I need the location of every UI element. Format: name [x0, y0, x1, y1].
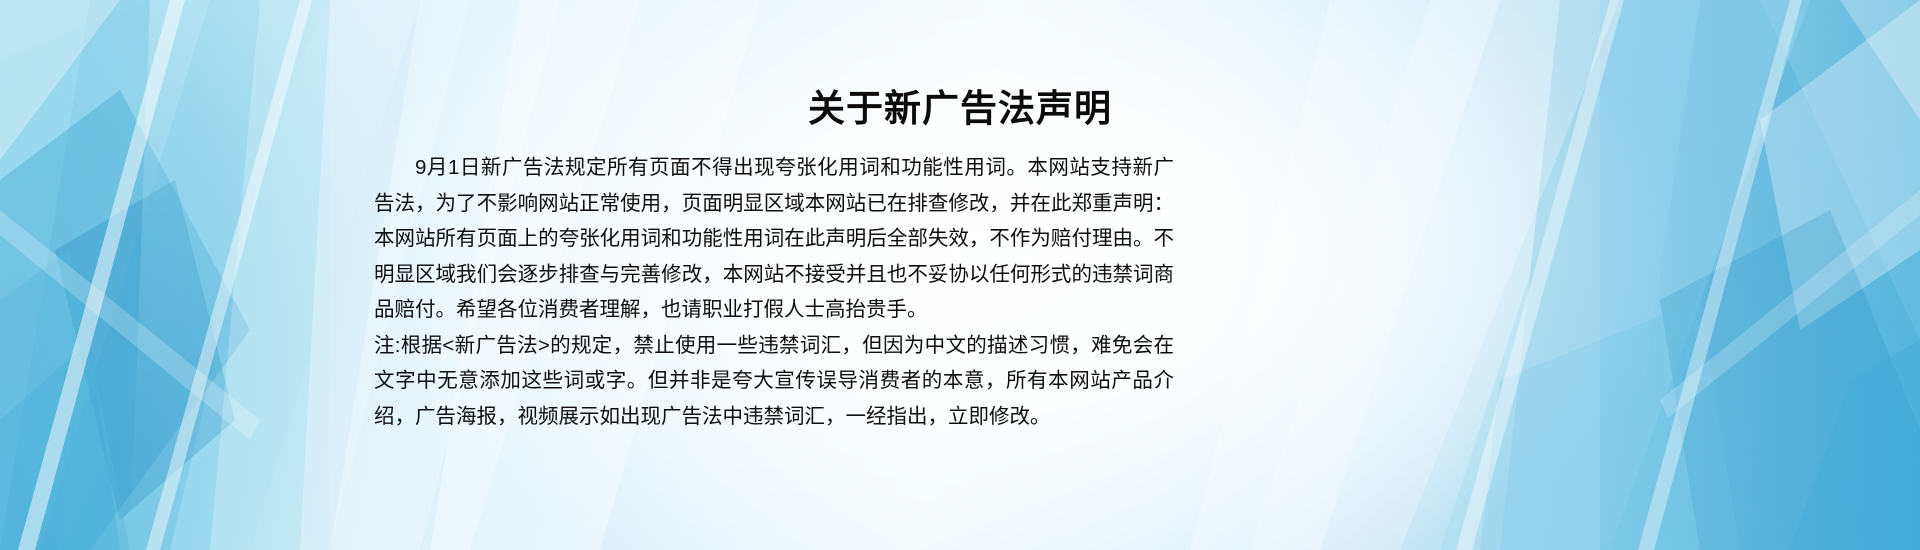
statement-content: 关于新广告法声明 9月1日新广告法规定所有页面不得出现夸张化用词和功能性用词。本… — [0, 0, 1920, 550]
banner-canvas: 关于新广告法声明 9月1日新广告法规定所有页面不得出现夸张化用词和功能性用词。本… — [0, 0, 1920, 550]
statement-paragraph-2: 注:根据<新广告法>的规定，禁止使用一些违禁词汇，但因为中文的描述习惯，难免会在… — [374, 328, 1174, 435]
statement-paragraph-1: 9月1日新广告法规定所有页面不得出现夸张化用词和功能性用词。本网站支持新广告法，… — [374, 150, 1174, 328]
page-title: 关于新广告法声明 — [0, 86, 1920, 132]
statement-body: 9月1日新广告法规定所有页面不得出现夸张化用词和功能性用词。本网站支持新广告法，… — [374, 150, 1174, 434]
